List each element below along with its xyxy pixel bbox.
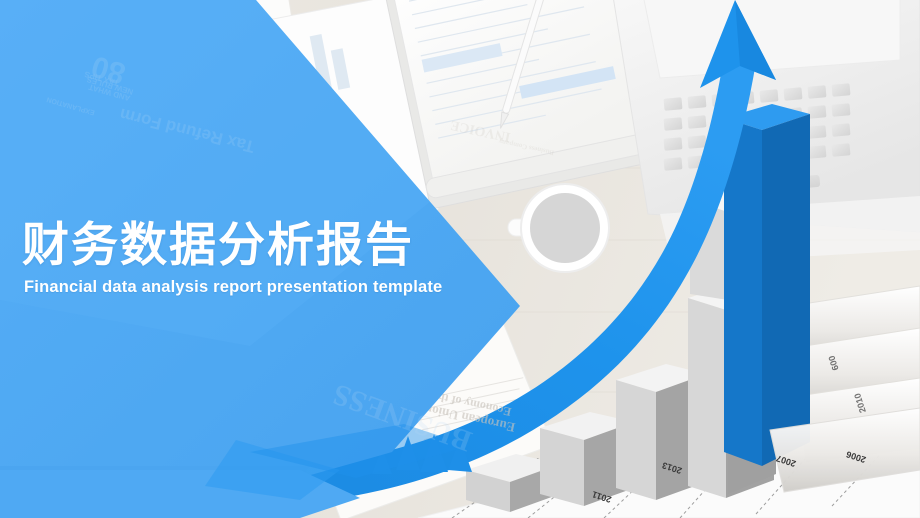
doc-word-explanation: EXPLANATION [46,95,96,115]
presentation-slide: Tax Refund Form 80 TAX TIPS NEW RULES AN… [0,0,920,518]
doc-word-business: BUSINESS [329,376,477,458]
doc-word-tax-refund: Tax Refund Form [118,104,257,157]
overlay-doc-text-layer: Tax Refund Form 80 TAX TIPS NEW RULES AN… [0,0,920,518]
